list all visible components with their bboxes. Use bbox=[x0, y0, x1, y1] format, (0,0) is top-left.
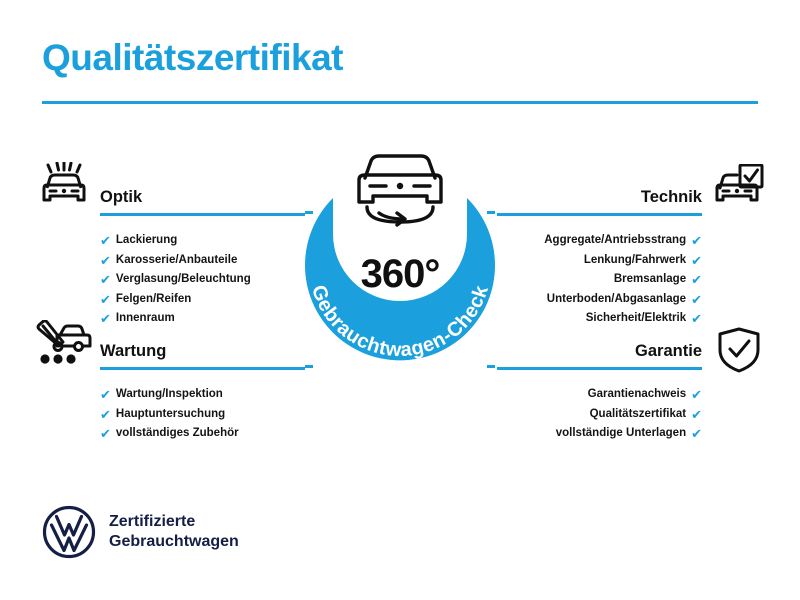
car-rotation-icon bbox=[343, 150, 457, 232]
check-icon: ✔ bbox=[100, 293, 111, 306]
section-optik-items: ✔Lackierung ✔Karosserie/Anbauteile ✔Verg… bbox=[100, 231, 305, 329]
list-item-label: Wartung/Inspektion bbox=[116, 385, 223, 405]
list-item: ✔Lackierung bbox=[100, 231, 305, 251]
section-garantie-title: Garantie bbox=[497, 336, 702, 366]
list-item-label: Verglasung/Beleuchtung bbox=[116, 270, 251, 290]
check-icon: ✔ bbox=[691, 234, 702, 247]
list-item-label: Karosserie/Anbauteile bbox=[116, 251, 237, 271]
list-item: ✔Qualitätszertifikat bbox=[497, 405, 702, 425]
list-item-label: Unterboden/Abgasanlage bbox=[547, 290, 686, 310]
list-item: ✔Sicherheit/Elektrik bbox=[497, 309, 702, 329]
section-optik-header: Optik bbox=[100, 182, 305, 222]
list-item-label: Qualitätszertifikat bbox=[590, 405, 687, 425]
section-wartung-title: Wartung bbox=[100, 336, 305, 366]
check-icon: ✔ bbox=[100, 408, 111, 421]
footer-text-line2: Gebrauchtwagen bbox=[109, 532, 239, 552]
list-item-label: Aggregate/Antriebsstrang bbox=[544, 231, 686, 251]
car-service-icon bbox=[33, 320, 93, 366]
footer-logo-block: Zertifizierte Gebrauchtwagen bbox=[42, 505, 239, 559]
list-item: ✔Innenraum bbox=[100, 309, 305, 329]
footer-text-line1: Zertifizierte bbox=[109, 512, 239, 532]
footer-logo-text: Zertifizierte Gebrauchtwagen bbox=[109, 512, 239, 552]
list-item: ✔Wartung/Inspektion bbox=[100, 385, 305, 405]
list-item-label: Felgen/Reifen bbox=[116, 290, 191, 310]
check-icon: ✔ bbox=[691, 312, 702, 325]
section-garantie-items: ✔Garantienachweis ✔Qualitätszertifikat ✔… bbox=[497, 385, 702, 444]
section-garantie-header: Garantie bbox=[497, 336, 702, 376]
list-item: ✔Karosserie/Anbauteile bbox=[100, 251, 305, 271]
shield-check-icon bbox=[715, 326, 763, 374]
check-icon: ✔ bbox=[691, 408, 702, 421]
list-item-label: Lackierung bbox=[116, 231, 177, 251]
list-item-label: Lenkung/Fahrwerk bbox=[584, 251, 686, 271]
list-item: ✔Unterboden/Abgasanlage bbox=[497, 290, 702, 310]
section-wartung-divider bbox=[100, 367, 305, 370]
section-optik-divider bbox=[100, 213, 305, 216]
list-item: ✔Lenkung/Fahrwerk bbox=[497, 251, 702, 271]
check-icon: ✔ bbox=[691, 273, 702, 286]
list-item: ✔Felgen/Reifen bbox=[100, 290, 305, 310]
vw-logo bbox=[42, 505, 96, 559]
list-item: ✔Hauptuntersuchung bbox=[100, 405, 305, 425]
section-technik-divider bbox=[497, 213, 702, 216]
list-item: ✔vollständige Unterlagen bbox=[497, 424, 702, 444]
check-icon: ✔ bbox=[100, 388, 111, 401]
list-item-label: Garantienachweis bbox=[588, 385, 686, 405]
check-icon: ✔ bbox=[100, 312, 111, 325]
list-item-label: Bremsanlage bbox=[614, 270, 686, 290]
section-wartung: Wartung ✔Wartung/Inspektion ✔Hauptunters… bbox=[100, 336, 305, 444]
list-item: ✔Garantienachweis bbox=[497, 385, 702, 405]
page-title: Qualitätszertifikat bbox=[42, 38, 343, 79]
section-technik-title: Technik bbox=[497, 182, 702, 212]
check-icon: ✔ bbox=[691, 254, 702, 267]
list-item-label: vollständiges Zubehör bbox=[116, 424, 239, 444]
list-item-label: Hauptuntersuchung bbox=[116, 405, 225, 425]
section-technik-header: Technik bbox=[497, 182, 702, 222]
list-item-label: vollständige Unterlagen bbox=[556, 424, 686, 444]
car-polish-icon bbox=[38, 162, 90, 208]
section-wartung-header: Wartung bbox=[100, 336, 305, 376]
car-checkbox-icon bbox=[712, 164, 764, 210]
quality-certificate-page: Qualitätszertifikat bbox=[0, 0, 800, 600]
badge-360-gebrauchtwagen-check: Gebrauchtwagen-Check 360° bbox=[285, 150, 515, 380]
list-item-label: Sicherheit/Elektrik bbox=[586, 309, 686, 329]
check-icon: ✔ bbox=[691, 293, 702, 306]
section-technik: Technik ✔Aggregate/Antriebsstrang ✔Lenku… bbox=[497, 182, 702, 329]
section-optik-title: Optik bbox=[100, 182, 305, 212]
list-item: ✔Bremsanlage bbox=[497, 270, 702, 290]
check-icon: ✔ bbox=[100, 273, 111, 286]
check-icon: ✔ bbox=[691, 427, 702, 440]
list-item: ✔Aggregate/Antriebsstrang bbox=[497, 231, 702, 251]
check-icon: ✔ bbox=[100, 254, 111, 267]
list-item: ✔Verglasung/Beleuchtung bbox=[100, 270, 305, 290]
list-item-label: Innenraum bbox=[116, 309, 175, 329]
title-divider bbox=[42, 101, 758, 104]
section-wartung-items: ✔Wartung/Inspektion ✔Hauptuntersuchung ✔… bbox=[100, 385, 305, 444]
check-icon: ✔ bbox=[100, 234, 111, 247]
section-technik-items: ✔Aggregate/Antriebsstrang ✔Lenkung/Fahrw… bbox=[497, 231, 702, 329]
check-icon: ✔ bbox=[691, 388, 702, 401]
check-icon: ✔ bbox=[100, 427, 111, 440]
section-garantie: Garantie ✔Garantienachweis ✔Qualitätszer… bbox=[497, 336, 702, 444]
section-garantie-divider bbox=[497, 367, 702, 370]
section-optik: Optik ✔Lackierung ✔Karosserie/Anbauteile… bbox=[100, 182, 305, 329]
list-item: ✔vollständiges Zubehör bbox=[100, 424, 305, 444]
